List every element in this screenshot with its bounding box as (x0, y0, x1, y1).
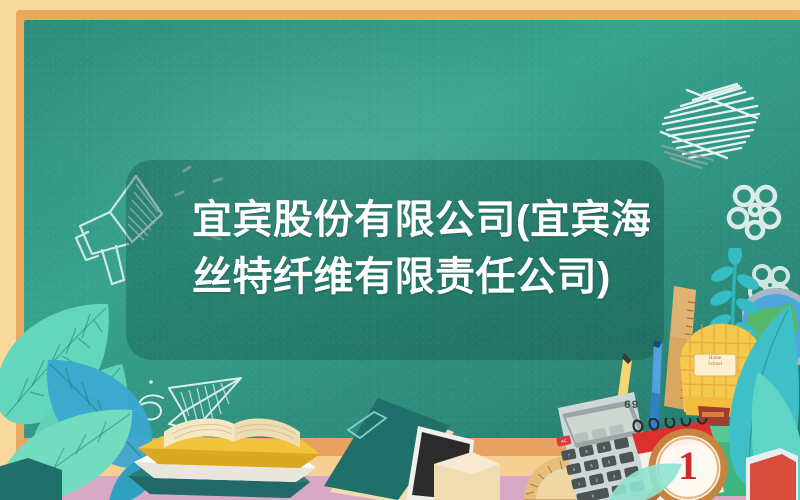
calculator-key-5[interactable]: 5 (584, 459, 600, 472)
book-icon (0, 452, 64, 500)
poster-canvas: 宜宾股份有限公司(宜宾海 丝特纤维有限责任公司) (0, 0, 800, 500)
calculator-key-4[interactable]: 4 (566, 463, 582, 476)
leaf-icon (604, 460, 684, 500)
title-line-1: 宜宾股份有限公司(宜宾海 (192, 192, 662, 249)
calculator-key-sign[interactable] (574, 431, 590, 443)
page-title: 宜宾股份有限公司(宜宾海 丝特纤维有限责任公司) (192, 192, 662, 306)
title-line-2: 丝特纤维有限责任公司) (192, 249, 662, 306)
book-icon (432, 446, 502, 500)
calculator-key-divide[interactable] (609, 424, 625, 436)
calculator-key-percent[interactable] (591, 428, 607, 440)
calculator-key-8[interactable]: 8 (578, 445, 594, 458)
book-icon (744, 446, 800, 500)
title-backdrop-panel (126, 160, 664, 360)
calculator-key-2[interactable]: 2 (589, 473, 605, 486)
calculator-key-ac[interactable]: AC (556, 435, 572, 447)
calculator-brand: CALCULATOR (562, 398, 592, 403)
calculator-key-7[interactable]: 7 (561, 448, 577, 461)
calculator-display-value: 69 (624, 400, 639, 412)
chalk-dash-icon (174, 165, 244, 245)
megaphone-icon (66, 162, 176, 292)
calculator-key-1[interactable]: 1 (571, 477, 587, 490)
book-stack (124, 414, 324, 500)
calculator-key-multiply[interactable] (614, 437, 630, 450)
flower-icon (724, 180, 786, 242)
chalk-smudge-icon (657, 72, 775, 172)
calculator-key-9[interactable]: 9 (596, 441, 612, 454)
